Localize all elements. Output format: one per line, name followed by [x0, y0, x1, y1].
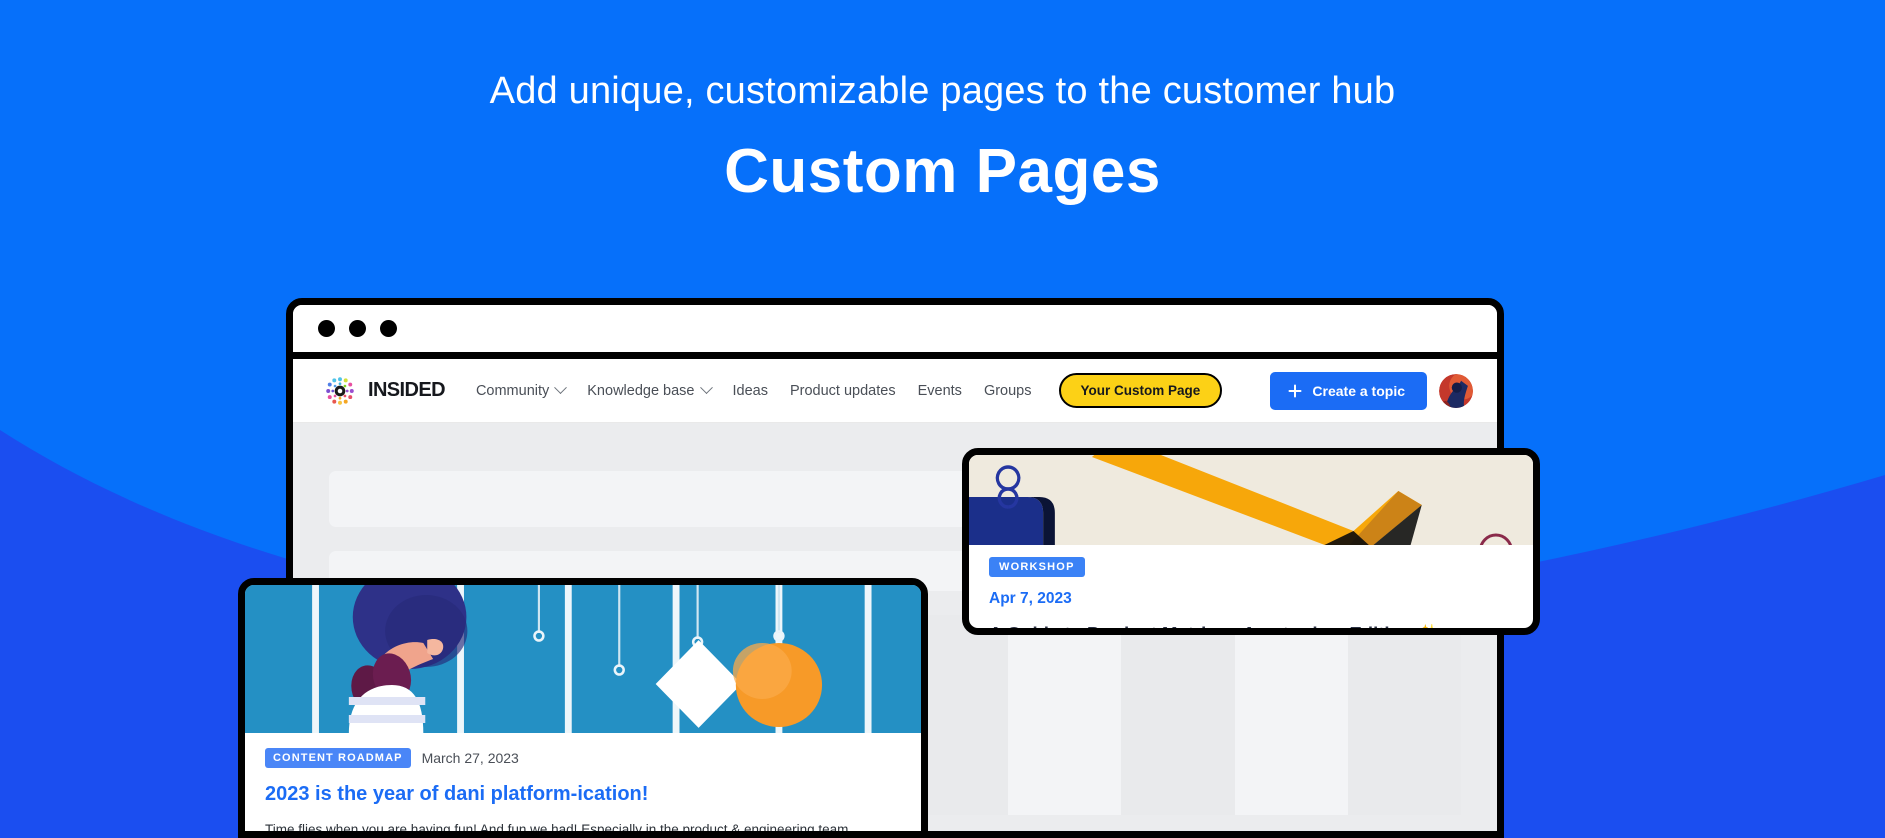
window-minimize-dot[interactable] — [349, 320, 366, 337]
blog-card-hero-image — [245, 585, 921, 733]
hero-title: Custom Pages — [0, 138, 1885, 206]
nav-item-label: Community — [476, 383, 549, 399]
event-title: A Guide to Product Metrics - Amsterdam E… — [989, 623, 1513, 635]
skeleton-column — [1008, 615, 1121, 815]
site-logo[interactable]: INSIDED — [321, 372, 445, 410]
nav-item-label: Knowledge base — [587, 383, 694, 399]
nav-item-community[interactable]: Community — [465, 383, 576, 399]
blog-card-body: CONTENT ROADMAP March 27, 2023 2023 is t… — [245, 733, 921, 838]
skeleton-column — [1121, 615, 1234, 815]
nav-item-events[interactable]: Events — [907, 383, 973, 399]
skeleton-column — [1348, 615, 1461, 815]
hero-subtitle: Add unique, customizable pages to the cu… — [0, 68, 1885, 116]
plus-icon — [1288, 384, 1302, 398]
nav-item-groups[interactable]: Groups — [973, 383, 1043, 399]
hero-section: Add unique, customizable pages to the cu… — [0, 0, 1885, 206]
user-avatar[interactable] — [1439, 374, 1473, 408]
event-card[interactable]: WORKSHOP Apr 7, 2023 A Guide to Product … — [962, 448, 1540, 635]
nav-right-group: Create a topic — [1270, 372, 1473, 410]
nav-item-ideas[interactable]: Ideas — [722, 383, 779, 399]
nav-item-knowledge-base[interactable]: Knowledge base — [576, 383, 721, 399]
event-card-body: WORKSHOP Apr 7, 2023 A Guide to Product … — [969, 545, 1533, 635]
nav-item-label: Ideas — [733, 383, 768, 399]
create-topic-button[interactable]: Create a topic — [1270, 372, 1427, 410]
blog-date: March 27, 2023 — [422, 750, 519, 766]
blog-excerpt: Time flies when you are having fun! And … — [265, 820, 901, 838]
event-type-badge: WORKSHOP — [989, 557, 1085, 577]
decorations-illustration — [245, 585, 921, 733]
nav-item-label: Product updates — [790, 383, 896, 399]
ribbon-illustration — [969, 455, 1533, 545]
your-custom-page-button[interactable]: Your Custom Page — [1059, 373, 1223, 408]
site-navigation-bar: INSIDED Community Knowledge base Ideas P… — [293, 359, 1497, 423]
window-maximize-dot[interactable] — [380, 320, 397, 337]
window-close-dot[interactable] — [318, 320, 335, 337]
nav-item-product-updates[interactable]: Product updates — [779, 383, 907, 399]
browser-chrome-bar — [293, 305, 1497, 359]
create-topic-label: Create a topic — [1312, 383, 1405, 399]
chevron-down-icon — [700, 381, 713, 394]
event-card-hero-image — [969, 455, 1533, 545]
insided-logo-icon — [321, 372, 359, 410]
blog-title[interactable]: 2023 is the year of dani platform-icatio… — [265, 783, 901, 806]
blog-meta-row: CONTENT ROADMAP March 27, 2023 — [265, 748, 901, 768]
nav-item-label: Events — [918, 383, 962, 399]
nav-item-label: Groups — [984, 383, 1032, 399]
chevron-down-icon — [554, 381, 567, 394]
event-date: Apr 7, 2023 — [989, 590, 1513, 608]
site-logo-text: INSIDED — [368, 379, 445, 402]
blog-category-badge: CONTENT ROADMAP — [265, 748, 411, 768]
skeleton-column — [1235, 615, 1348, 815]
blog-card[interactable]: CONTENT ROADMAP March 27, 2023 2023 is t… — [238, 578, 928, 838]
